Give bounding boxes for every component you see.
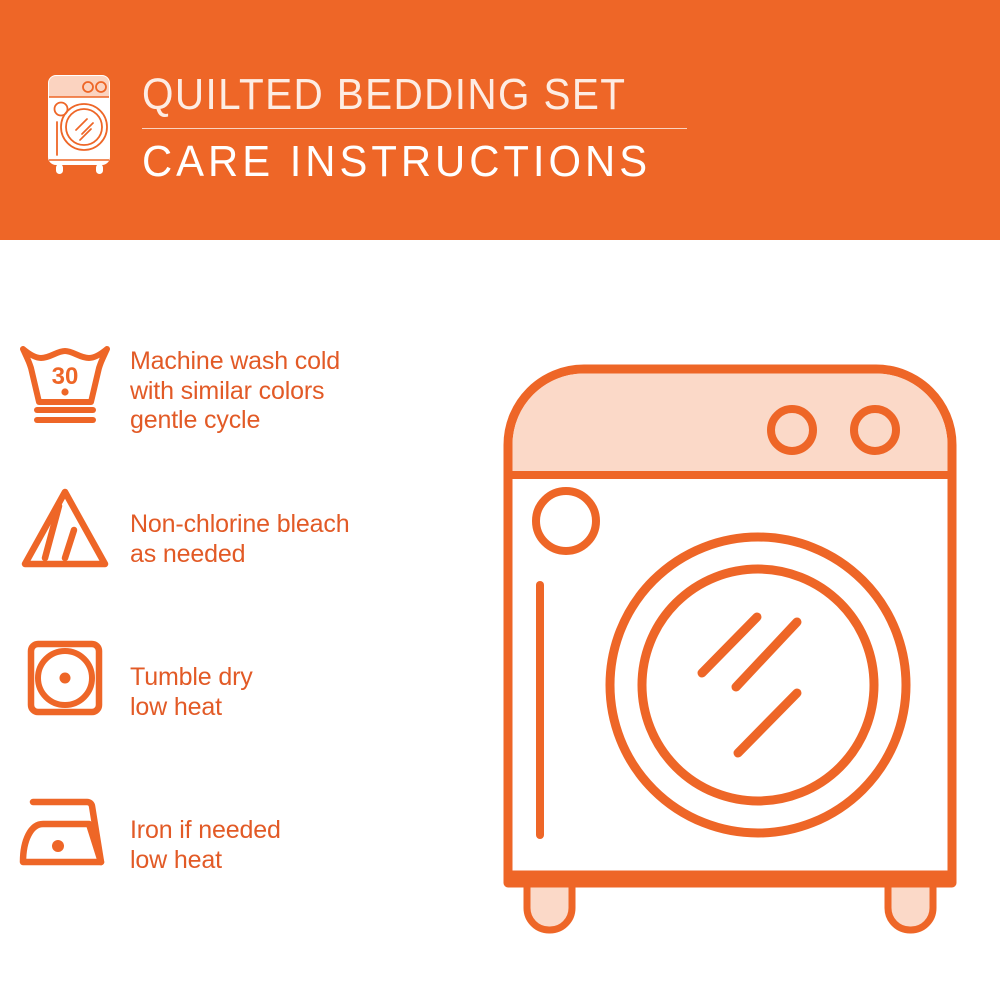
wash-tub-icon: 30 bbox=[0, 340, 130, 426]
wash-temperature-label: 30 bbox=[52, 363, 79, 390]
instruction-list: 30 Machine wash cold with similar colors… bbox=[0, 240, 490, 1000]
iron-icon bbox=[0, 788, 130, 874]
bleach-triangle-icon bbox=[0, 486, 130, 572]
instruction-row-wash: 30 Machine wash cold with similar colors… bbox=[0, 340, 490, 436]
header-text-block: QUILTED BEDDING SET CARE INSTRUCTIONS bbox=[142, 70, 702, 188]
instruction-label-wash: Machine wash cold with similar colors ge… bbox=[130, 340, 340, 436]
instruction-label-bleach: Non-chlorine bleach as needed bbox=[130, 486, 350, 569]
washing-machine-icon bbox=[44, 72, 118, 176]
header-divider bbox=[142, 128, 687, 129]
instruction-label-dry: Tumble dry low heat bbox=[130, 636, 253, 722]
washing-machine-illustration bbox=[490, 335, 990, 935]
instruction-row-dry: Tumble dry low heat bbox=[0, 636, 490, 722]
instruction-row-bleach: Non-chlorine bleach as needed bbox=[0, 486, 490, 572]
instruction-row-iron: Iron if needed low heat bbox=[0, 788, 490, 875]
page-title: QUILTED BEDDING SET bbox=[142, 70, 657, 120]
content-area: 30 Machine wash cold with similar colors… bbox=[0, 240, 1000, 1000]
header-banner: QUILTED BEDDING SET CARE INSTRUCTIONS bbox=[0, 0, 1000, 240]
page-subtitle: CARE INSTRUCTIONS bbox=[142, 136, 674, 188]
tumble-dry-icon bbox=[0, 636, 130, 722]
instruction-label-iron: Iron if needed low heat bbox=[130, 788, 281, 875]
